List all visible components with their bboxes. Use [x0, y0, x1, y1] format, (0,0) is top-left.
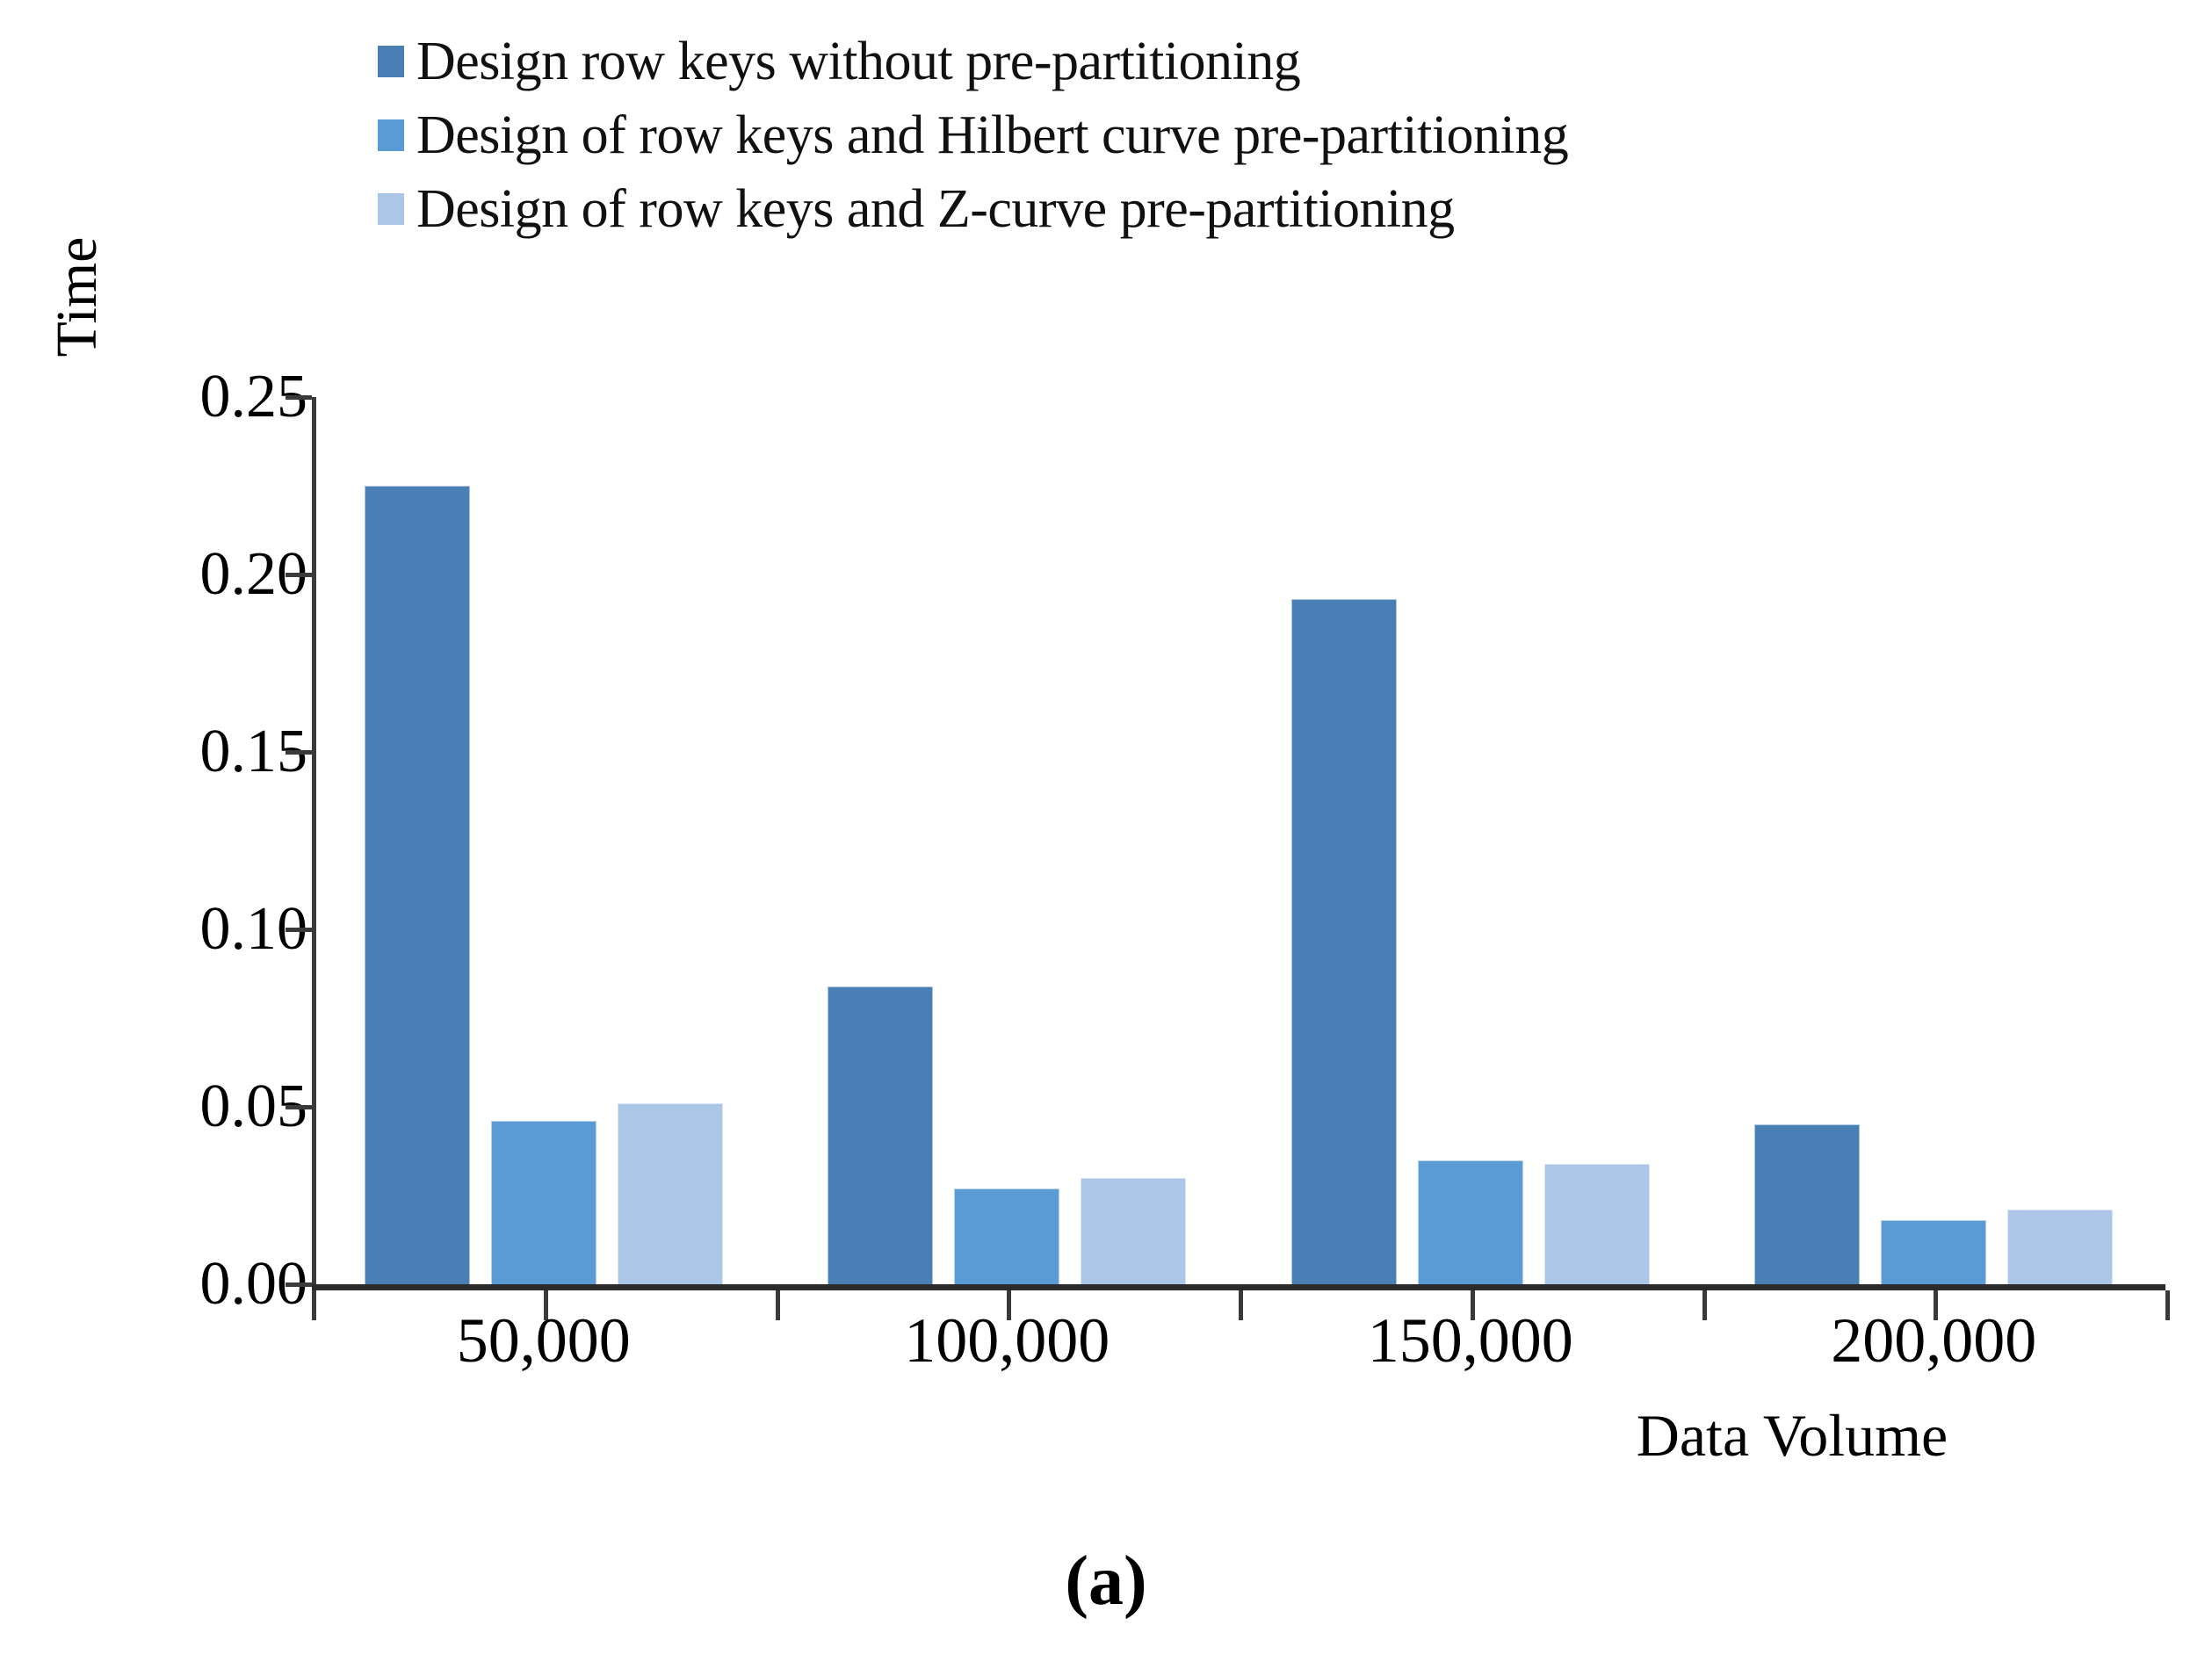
y-axis-tick-labels: 0.000.050.100.150.200.25	[88, 397, 307, 1284]
bar	[2007, 1210, 2113, 1284]
bar	[491, 1121, 596, 1284]
bar	[365, 486, 470, 1284]
x-axis-tick-mark	[2165, 1290, 2170, 1320]
y-axis-tick-mark	[286, 1282, 312, 1287]
x-axis-title: Data Volume	[1406, 1405, 2179, 1465]
y-axis-tick-mark	[286, 928, 312, 932]
bar-group	[1239, 397, 1702, 1284]
y-axis-tick-mark	[286, 1105, 312, 1109]
bar	[1081, 1178, 1186, 1284]
x-axis-tick-label: 200,000	[1702, 1309, 2166, 1372]
y-axis-tick-label: 0.20	[88, 544, 307, 605]
plot-area	[312, 397, 2165, 1284]
y-axis-tick-label: 0.25	[88, 366, 307, 428]
bar	[1291, 599, 1397, 1284]
bar	[828, 986, 933, 1284]
bar	[618, 1103, 723, 1284]
bar-group	[312, 397, 776, 1284]
bar-chart: Time 0.000.050.100.150.200.25 50,000100,…	[0, 0, 2212, 1669]
x-axis-tick-label: 50,000	[312, 1309, 776, 1372]
x-axis-tick-label: 100,000	[776, 1309, 1240, 1372]
bar	[1544, 1164, 1650, 1284]
figure-caption: (a)	[0, 1546, 2212, 1616]
bar-groups	[312, 397, 2165, 1284]
y-axis-tick-label: 0.15	[88, 721, 307, 783]
x-axis-line	[312, 1284, 2165, 1290]
bar	[1754, 1124, 1860, 1284]
y-axis-tick-label: 0.00	[88, 1254, 307, 1315]
y-axis-tick-mark	[286, 395, 312, 400]
y-axis-tick-label: 0.10	[88, 899, 307, 960]
bar	[1418, 1160, 1523, 1284]
y-axis-tick-mark	[286, 750, 312, 755]
bar	[1881, 1220, 1986, 1284]
x-axis-tick-label: 150,000	[1239, 1309, 1702, 1372]
bar-group	[776, 397, 1240, 1284]
bar	[954, 1189, 1059, 1284]
bar-group	[1702, 397, 2166, 1284]
y-axis-title: Time	[44, 200, 111, 394]
y-axis-tick-mark	[286, 573, 312, 577]
y-axis-tick-label: 0.05	[88, 1076, 307, 1138]
x-axis-tick-labels: 50,000100,000150,000200,000	[312, 1309, 2165, 1372]
